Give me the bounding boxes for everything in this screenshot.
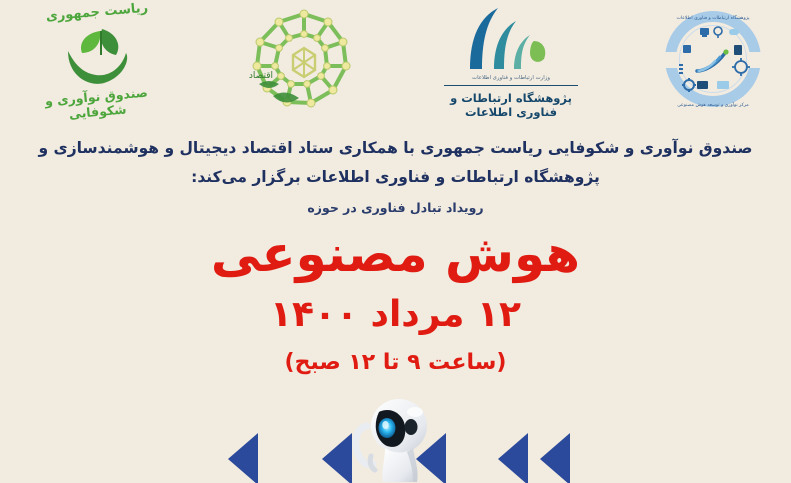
swoosh-mark-icon (464, 7, 556, 69)
fund-text-top: ریاست جمهوری (22, 0, 173, 26)
event-date: ۱۲ مرداد ۱۴۰۰ (0, 296, 791, 334)
itrc-ai-center-logo: پژوهشگاه ارتباطات و فناوری اطلاعات مرکز … (657, 5, 769, 120)
headline-line-1: صندوق نوآوری و شکوفایی ریاست جمهوری با ه… (0, 134, 791, 163)
ai-robot-mascot (349, 396, 443, 483)
digital-economy-hq-logo: اقتصاد (243, 4, 365, 122)
ministry-ict-logo: وزارت ارتباطات و فناوری اطلاعات پژوهشگاه… (436, 5, 586, 121)
hq-caption: اقتصاد (249, 71, 273, 81)
event-title: هوش مصنوعی (0, 228, 791, 281)
headline-line-2: پژوهشگاه ارتباطات و فناوری اطلاعات برگزا… (0, 163, 791, 192)
institute-title: پژوهشگاه ارتباطات و فناوری اطلاعات (436, 91, 586, 119)
leaf-crescent-icon (56, 25, 142, 87)
innovation-fund-logo: ریاست جمهوری صندوق نوآوری و شکوفایی (22, 3, 172, 123)
ministry-subtitle: وزارت ارتباطات و فناوری اطلاعات (436, 75, 586, 81)
chevron-icon (540, 433, 570, 483)
logo-strip: پژوهشگاه ارتباطات و فناوری اطلاعات مرکز … (0, 0, 791, 125)
headline: صندوق نوآوری و شکوفایی ریاست جمهوری با ه… (0, 134, 791, 191)
chevron-icon (228, 433, 258, 483)
fund-text-bottom: صندوق نوآوری و شکوفایی (21, 82, 173, 125)
chevron-icon (322, 433, 352, 483)
tech-icon-cluster (671, 19, 755, 103)
logo-divider (444, 85, 578, 87)
event-subline: رویداد تبادل فناوری در حوزه (0, 200, 791, 215)
event-poster: پژوهشگاه ارتباطات و فناوری اطلاعات مرکز … (0, 0, 791, 483)
logo-text-top: پژوهشگاه ارتباطات و فناوری اطلاعات (657, 17, 769, 22)
chevron-icon (498, 433, 528, 483)
geometric-network-icon: اقتصاد (243, 4, 365, 122)
event-time: (ساعت ۹ تا ۱۲ صبح) (0, 350, 791, 375)
logo-text-bottom: مرکز نوآوری و توسعه هوش مصنوعی (657, 104, 769, 109)
